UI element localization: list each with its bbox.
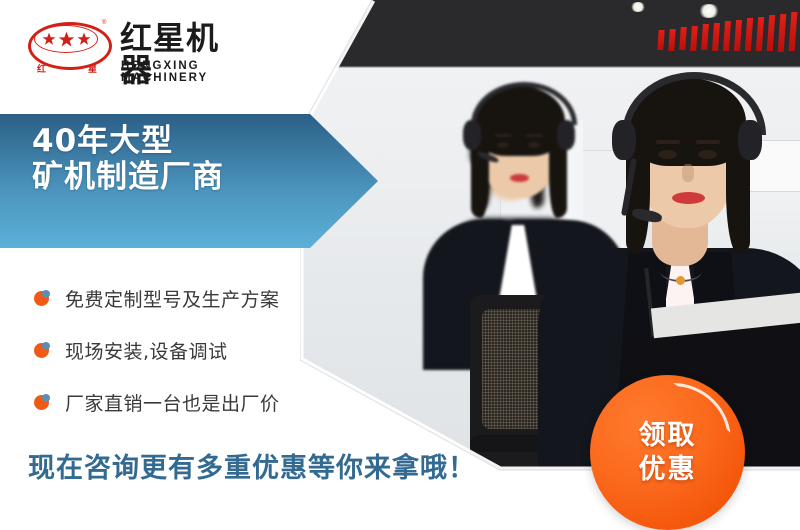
promo-slogan: 现在咨询更有多重优惠等你来拿哦！ — [28, 446, 476, 485]
cta-line-2: 优惠 — [639, 453, 697, 487]
logo-sub-left: 红 — [37, 62, 46, 75]
registered-trademark-icon: ® — [102, 20, 106, 26]
headline-text: 40年大型 矿机制造厂商 — [32, 124, 332, 196]
feature-item: 现场安装,设备调试 — [34, 324, 364, 376]
three-stars-icon — [34, 25, 98, 53]
claim-discount-button[interactable]: 领取 优惠 — [590, 375, 745, 530]
feature-label: 厂家直销一台也是出厂价 — [65, 389, 280, 416]
bullet-dot-icon — [34, 394, 51, 411]
star-icon — [58, 31, 75, 48]
customer-service-photo — [300, 0, 800, 470]
logo-sub-right: 星 — [88, 62, 97, 75]
headline-line-2: 矿机制造厂商 — [32, 160, 332, 196]
company-logo[interactable]: ® 红 星 红星机器 HONGXING MACHINERY — [28, 18, 248, 76]
brand-name-en: HONGXING MACHINERY — [121, 60, 248, 84]
feature-label: 免费定制型号及生产方案 — [65, 285, 280, 312]
star-icon — [42, 32, 56, 46]
ceiling-light-icon — [698, 4, 720, 18]
feature-item: 厂家直销一台也是出厂价 — [34, 376, 364, 428]
feature-item: 免费定制型号及生产方案 — [34, 272, 364, 324]
star-icon — [77, 32, 91, 46]
bullet-dot-icon — [34, 342, 51, 359]
headline-line-1: 40年大型 — [32, 124, 332, 160]
feature-label: 现场安装,设备调试 — [65, 337, 228, 364]
bullet-dot-icon — [34, 290, 51, 307]
feature-list: 免费定制型号及生产方案现场安装,设备调试厂家直销一台也是出厂价 — [34, 272, 364, 428]
photo-background — [300, 0, 800, 470]
promo-banner: ® 红 星 红星机器 HONGXING MACHINERY 40年大型 矿机制造… — [0, 0, 800, 530]
logo-subtext: 红 星 — [28, 62, 106, 75]
cta-line-1: 领取 — [639, 419, 697, 453]
ceiling-light-icon — [630, 2, 646, 12]
